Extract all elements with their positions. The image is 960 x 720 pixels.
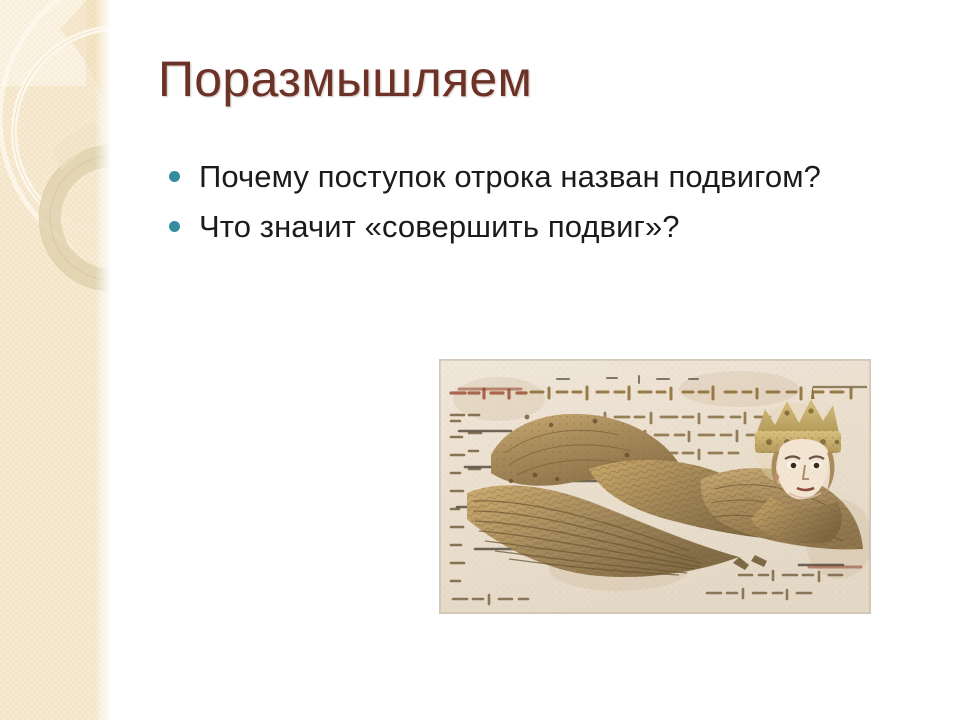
bullet-list: Почему поступок отрока назван подвигом? … [163,158,893,247]
manuscript-illustration-graphic [439,359,871,614]
bullet-text: Что значит «совершить подвиг»? [199,209,680,244]
left-decorative-band [0,0,110,720]
bullet-dot-icon [169,221,180,232]
bullet-dot-icon [169,171,180,182]
list-item: Что значит «совершить подвиг»? [163,208,893,246]
slide-title: Поразмышляем [158,52,898,107]
list-item: Почему поступок отрока назван подвигом? [163,158,893,196]
bullet-text: Почему поступок отрока назван подвигом? [199,159,821,194]
manuscript-sirin-illumination-image [439,359,871,614]
slide: Поразмышляем Почему поступок отрока назв… [0,0,960,720]
decorative-rings-graphic [0,0,110,720]
